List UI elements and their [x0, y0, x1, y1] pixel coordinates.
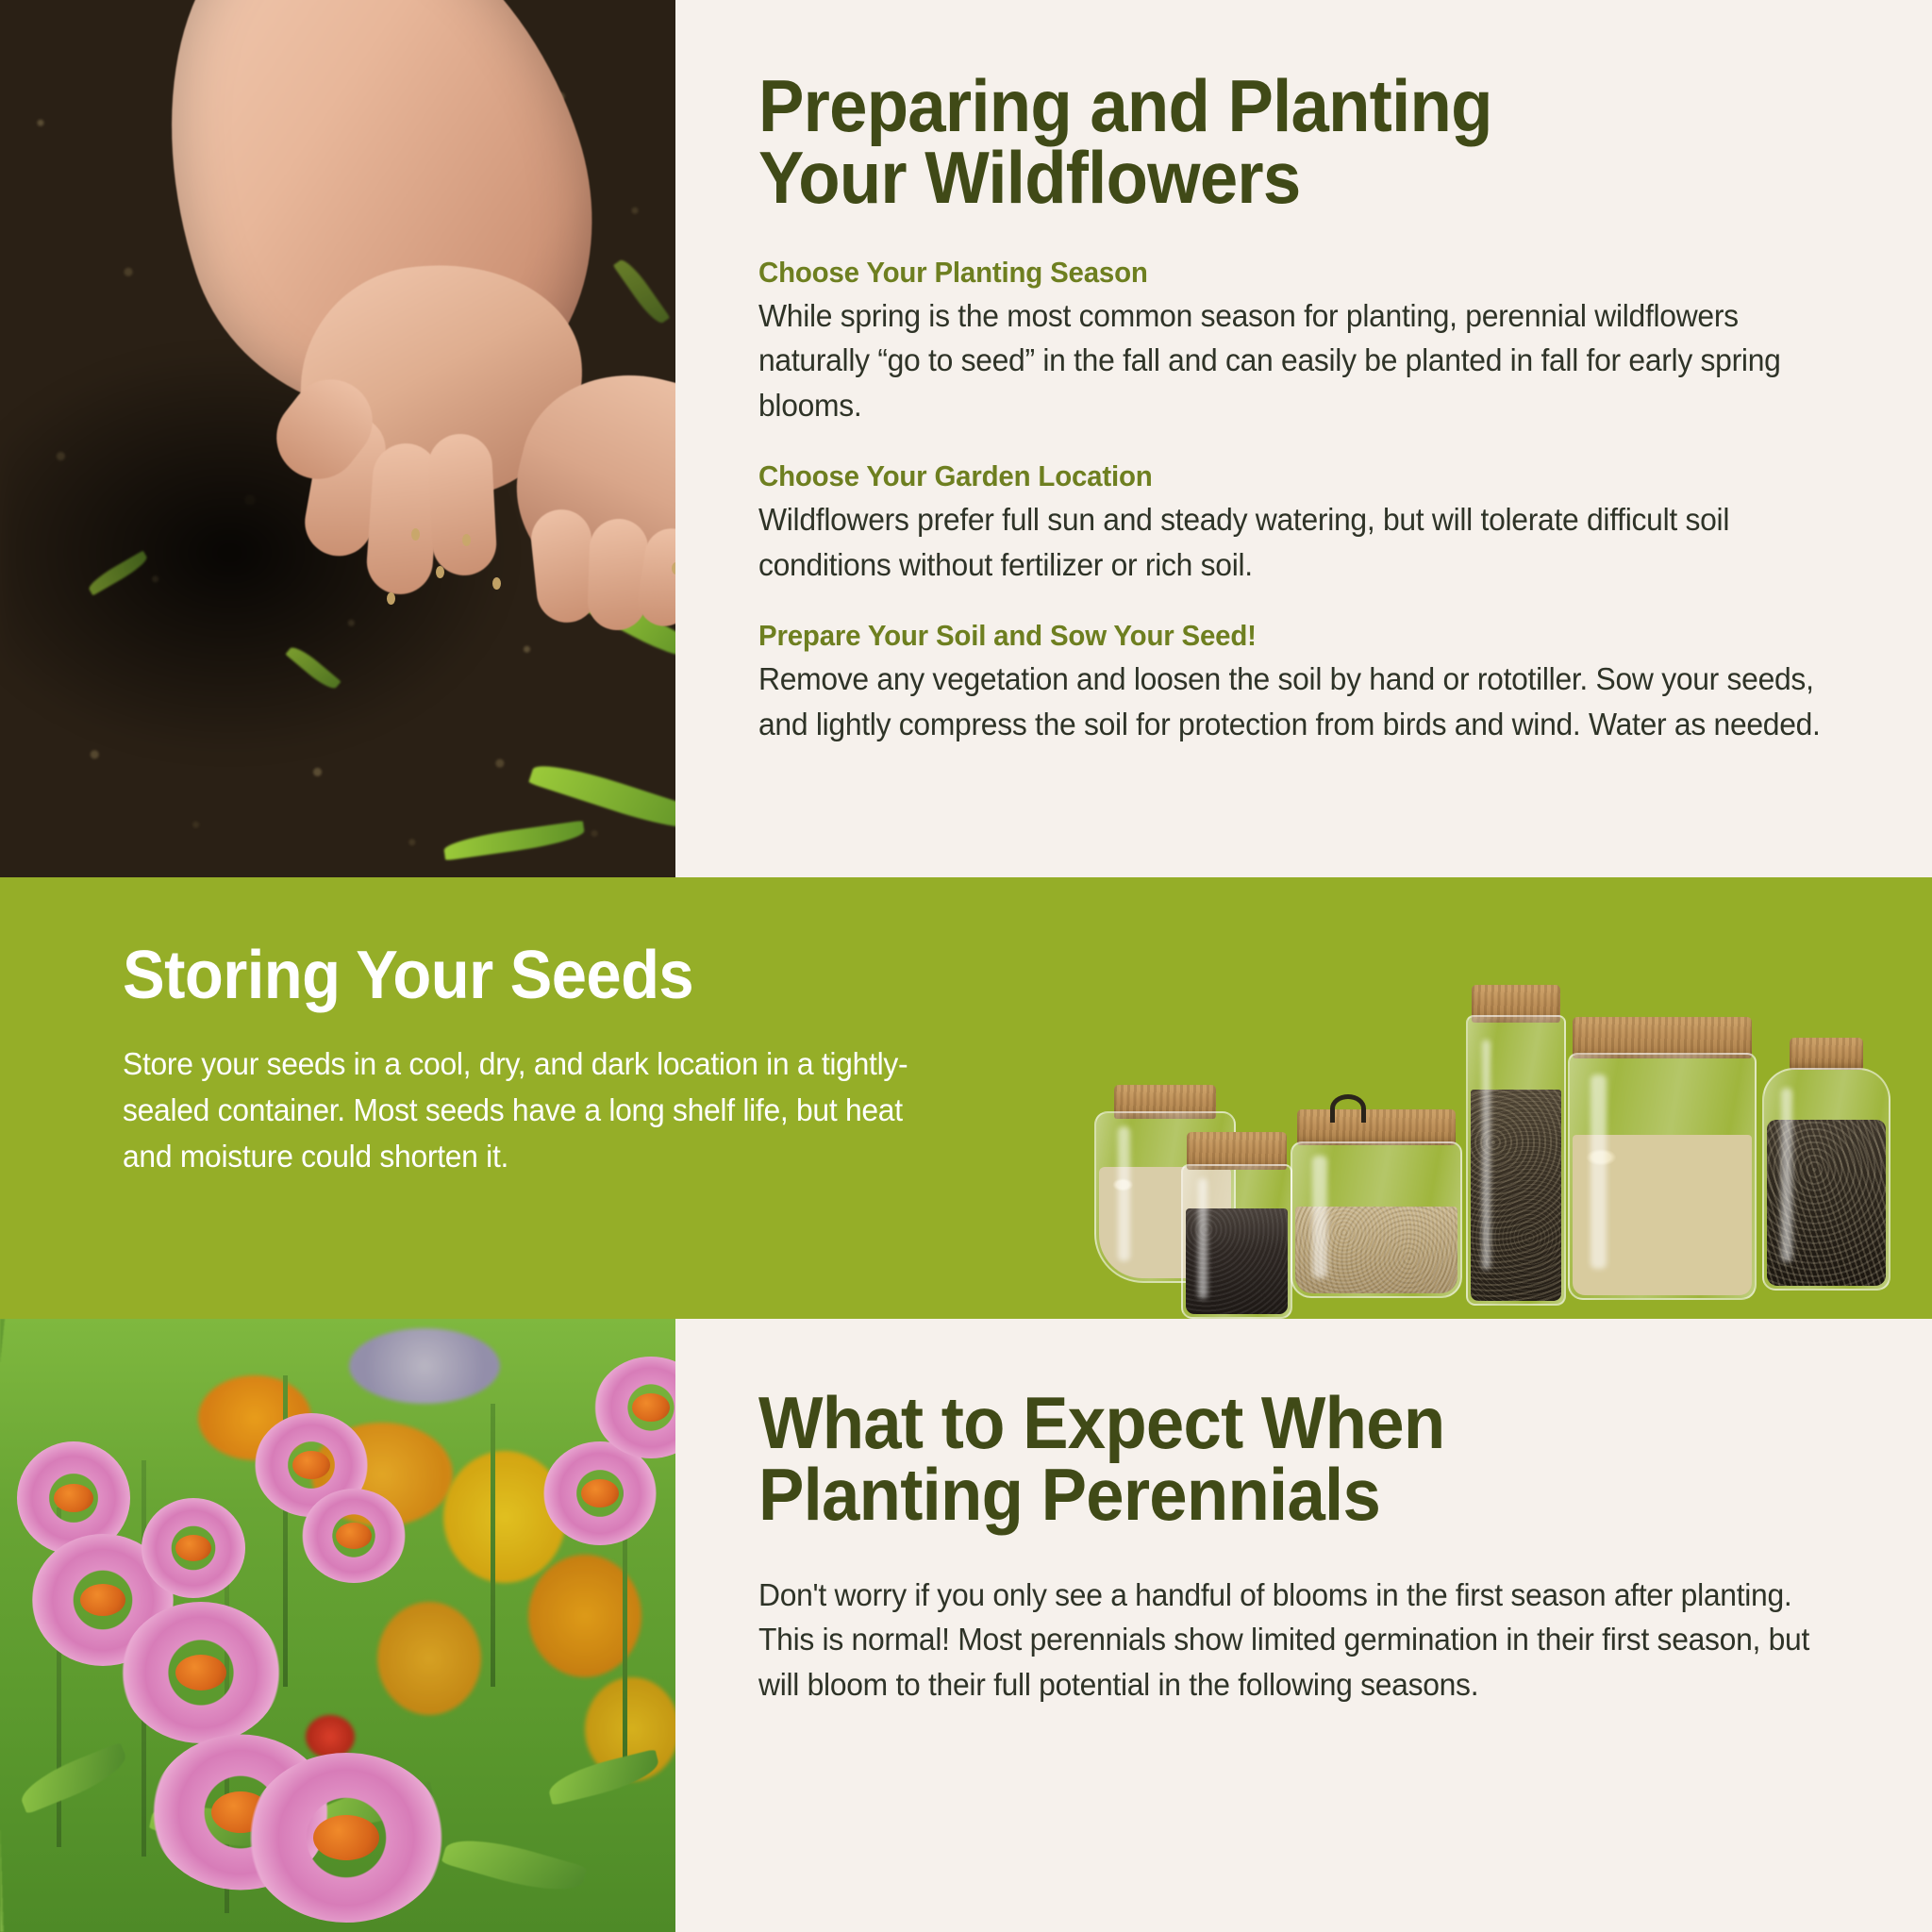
- glass-body: [1291, 1141, 1462, 1298]
- photo-wildflower-meadow: [0, 1319, 675, 1932]
- orange-flower-cluster: [377, 1602, 481, 1715]
- falling-seed: [672, 562, 675, 575]
- section-three-text-column: What to Expect When Planting Perennials …: [675, 1319, 1932, 1932]
- subheading-prepare-soil-sow-seed: Prepare Your Soil and Sow Your Seed!: [758, 619, 1808, 653]
- jar-tan-seeds: [1291, 1109, 1462, 1298]
- coneflower: [142, 1498, 245, 1598]
- cork-lid: [1790, 1038, 1863, 1070]
- glass-highlight: [1482, 1040, 1491, 1269]
- page-title: Preparing and Planting Your Wildflowers: [758, 70, 1787, 214]
- falling-seed: [411, 528, 420, 541]
- body-prepare-soil-sow-seed: Remove any vegetation and loosen the soi…: [758, 657, 1825, 746]
- section-preparing-and-planting: Preparing and Planting Your Wildflowers …: [0, 0, 1932, 877]
- glass-highlight: [1312, 1156, 1327, 1278]
- content-block-prepare-soil: Prepare Your Soil and Sow Your Seed! Rem…: [758, 619, 1864, 746]
- subheading-choose-garden-location: Choose Your Garden Location: [758, 459, 1808, 493]
- coneflower-center: [336, 1523, 372, 1549]
- coneflower-center: [175, 1655, 226, 1690]
- jar-black-seeds: [1181, 1132, 1292, 1319]
- glass-highlight: [1118, 1126, 1130, 1260]
- falling-seed: [462, 534, 471, 546]
- glass-body: [1466, 1015, 1566, 1306]
- flower-stem: [491, 1404, 495, 1687]
- content-block-planting-season: Choose Your Planting Season While spring…: [758, 256, 1864, 428]
- coneflower: [247, 1753, 445, 1923]
- photo-seed-jars: [1085, 877, 1932, 1319]
- heading-storing-your-seeds: Storing Your Seeds: [123, 941, 894, 1009]
- glass-body: [1762, 1068, 1890, 1291]
- finger: [426, 432, 498, 576]
- falling-seed: [492, 577, 501, 590]
- jar-dark-sunflower-seeds: [1466, 985, 1566, 1306]
- coneflower-center: [80, 1584, 125, 1616]
- coneflower-center: [175, 1535, 211, 1561]
- heading-what-to-expect: What to Expect When Planting Perennials: [758, 1387, 1776, 1531]
- section-storing-your-seeds: Storing Your Seeds Store your seeds in a…: [0, 877, 1932, 1319]
- jar-dark-mixed-seeds: [1762, 1038, 1890, 1291]
- coneflower-center: [313, 1815, 379, 1860]
- subheading-choose-planting-season: Choose Your Planting Season: [758, 256, 1808, 290]
- coneflower-center: [581, 1479, 619, 1507]
- body-choose-planting-season: While spring is the most common season f…: [758, 293, 1825, 428]
- glass-highlight: [1198, 1178, 1207, 1299]
- coneflower-center: [292, 1451, 330, 1479]
- coneflower: [121, 1602, 281, 1743]
- glass-body: [1181, 1164, 1292, 1319]
- coneflower-center: [632, 1393, 670, 1422]
- content-block-garden-location: Choose Your Garden Location Wildflowers …: [758, 459, 1864, 587]
- section-two-text-column: Storing Your Seeds Store your seeds in a…: [123, 941, 953, 1179]
- finger: [587, 518, 649, 631]
- body-storing-your-seeds: Store your seeds in a cool, dry, and dar…: [123, 1041, 924, 1179]
- glass-highlight: [1781, 1088, 1792, 1263]
- coneflower-center: [54, 1484, 93, 1512]
- cork-lid: [1297, 1109, 1456, 1145]
- cork-handle-loop: [1330, 1094, 1366, 1123]
- coneflower: [302, 1489, 406, 1583]
- body-choose-garden-location: Wildflowers prefer full sun and steady w…: [758, 497, 1825, 587]
- glass-body: [1568, 1053, 1757, 1300]
- falling-seed: [436, 566, 444, 578]
- glass-highlight: [1591, 1074, 1607, 1269]
- falling-seed: [387, 592, 395, 605]
- photo-hand-sowing-seeds: [0, 0, 675, 877]
- section-what-to-expect: What to Expect When Planting Perennials …: [0, 1319, 1932, 1932]
- jar-pumpkin-seeds: [1568, 1017, 1757, 1300]
- purple-flower-cluster: [349, 1328, 500, 1404]
- section-one-text-column: Preparing and Planting Your Wildflowers …: [675, 0, 1932, 877]
- body-what-to-expect: Don't worry if you only see a handful of…: [758, 1573, 1814, 1707]
- infographic-page: Preparing and Planting Your Wildflowers …: [0, 0, 1932, 1932]
